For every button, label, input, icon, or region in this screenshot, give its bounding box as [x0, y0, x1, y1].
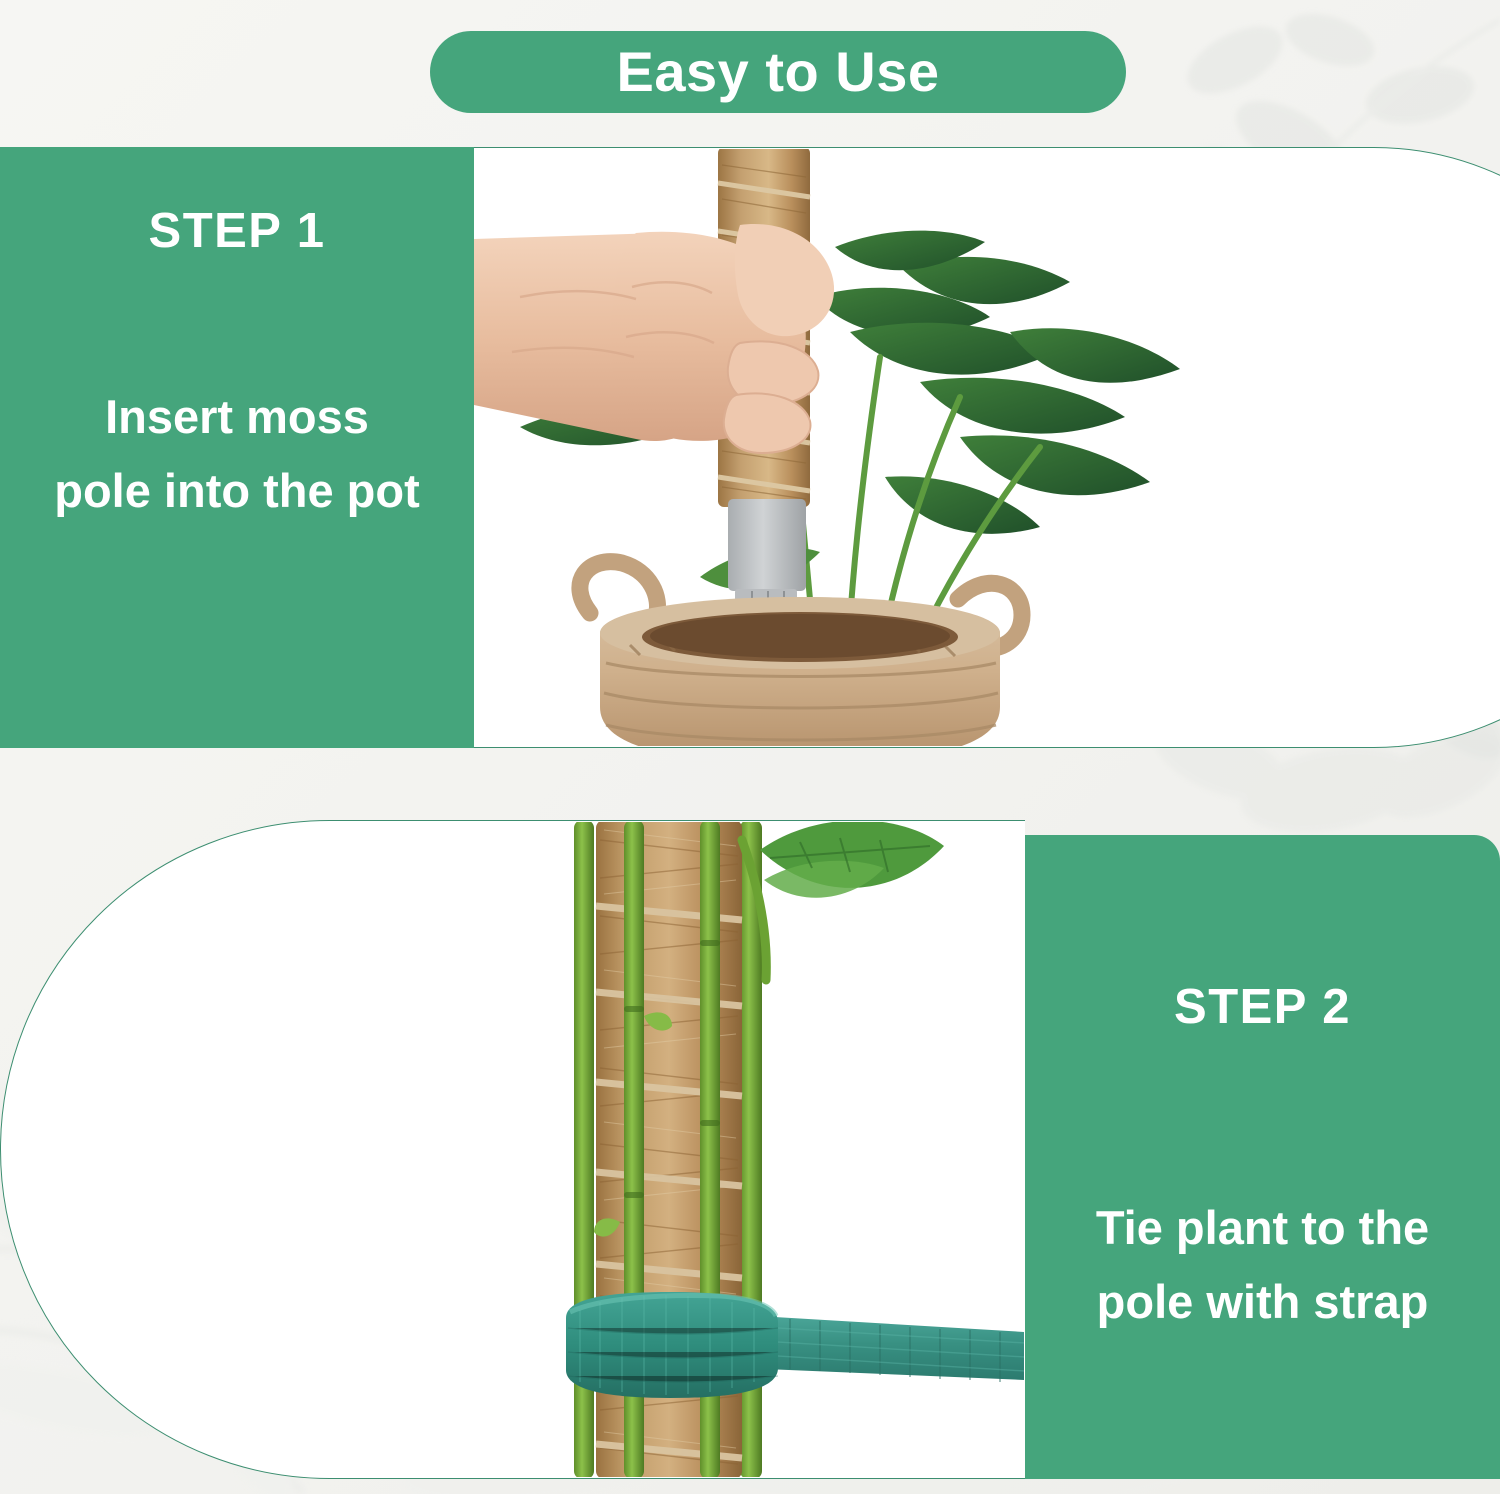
- step-panel-2: STEP 2 Tie plant to the pole with strap: [0, 820, 1500, 1494]
- step-2-description-line-2: pole with strap: [1097, 1275, 1429, 1328]
- step-1-label: STEP 1: [0, 203, 474, 259]
- step-2-description-line-1: Tie plant to the: [1096, 1201, 1429, 1254]
- step-1-green-block: STEP 1 Insert moss pole into the pot: [0, 147, 474, 748]
- step-2-label: STEP 2: [1025, 979, 1500, 1035]
- step-1-description: Insert moss pole into the pot: [0, 380, 474, 529]
- step-2-description: Tie plant to the pole with strap: [1025, 1191, 1500, 1340]
- header-band: Easy to Use: [0, 0, 1500, 147]
- step-1-description-line-1: Insert moss: [105, 390, 369, 443]
- header-title-pill: Easy to Use: [430, 31, 1126, 113]
- step-2-green-block: STEP 2 Tie plant to the pole with strap: [1025, 835, 1500, 1479]
- step-panel-1: STEP 1 Insert moss pole into the pot: [0, 147, 1500, 748]
- step-1-description-line-2: pole into the pot: [54, 464, 420, 517]
- page-title: Easy to Use: [617, 44, 940, 100]
